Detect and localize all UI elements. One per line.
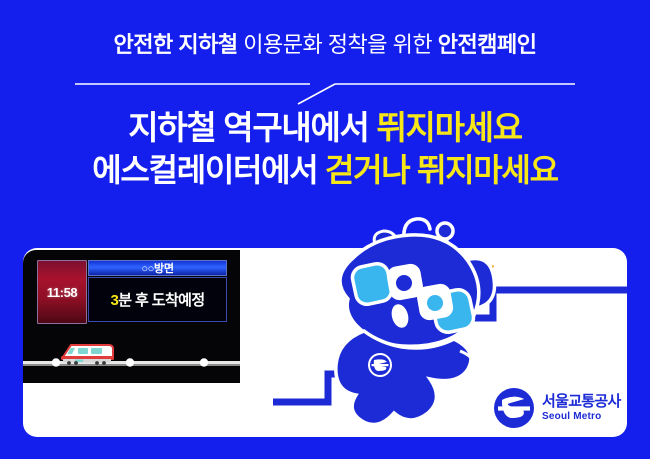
kicker-bold-lead: 안전한 지하철 [114,32,238,57]
headline-line1-white: 지하철 역구내에서 [128,109,376,146]
board-destination-bar: ○○방면 [88,260,227,276]
logo-korean-name: 서울교통공사 [542,394,621,409]
header-divider [0,78,650,106]
board-eta-panel: 3분 후 도착예정 [88,277,227,322]
board-clock: 11:58 [37,260,87,324]
mascot-pupil-left [396,275,412,291]
mascot-metro-badge [368,353,392,377]
logo-english-name: Seoul Metro [542,412,621,422]
board-eta-suffix: 분 후 도착예정 [118,292,204,309]
mascot-pupil-right [427,295,443,311]
headline-line2-white: 에스컬레이터에서 [92,152,325,188]
poster-kicker: 안전한 지하철 이용문화 정착을 위한 안전캠페인 [0,30,650,60]
poster-headline: 지하철 역구내에서 뛰지마세요 에스컬레이터에서 걷거나 뛰지마세요 [0,106,650,192]
board-track-graphic [23,335,240,383]
headline-line-1: 지하철 역구내에서 뛰지마세요 [0,106,650,149]
kicker-bold-tail: 안전캠페인 [438,32,537,57]
kicker-normal-mid: 이용문화 정착을 위한 [238,32,438,57]
headline-line-2: 에스컬레이터에서 걷거나 뛰지마세요 [0,149,650,192]
board-clock-value: 11:58 [47,285,78,300]
station-display-board: 11:58 ○○방면 3분 후 도착예정 [23,250,240,383]
headline-line2-highlight: 걷거나 뛰지마세요 [325,152,558,188]
safety-campaign-poster: 안전한 지하철 이용문화 정착을 위한 안전캠페인 지하철 역구내에서 뛰지마세… [0,0,650,459]
seoul-metro-emblem-icon [493,387,535,429]
train-icon [61,345,114,365]
board-destination-label: ○○방면 [141,260,173,276]
board-eta-text: 3분 후 도착예정 [110,289,204,310]
mascot-goggle-left [350,262,393,307]
seoul-metro-logo: 서울교통공사 Seoul Metro [493,385,623,431]
headline-line1-highlight: 뛰지마세요 [376,109,521,146]
seoul-metro-logotype: 서울교통공사 Seoul Metro [542,394,621,422]
